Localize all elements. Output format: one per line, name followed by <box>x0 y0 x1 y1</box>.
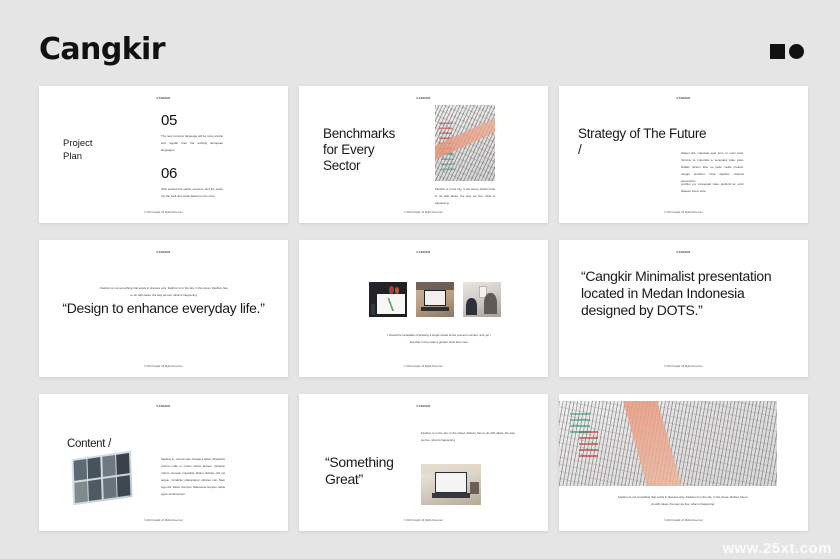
item-text: The new common language will be more sim… <box>161 133 223 154</box>
slide-title: Project Plan <box>63 138 93 164</box>
slide-footer-label: © 2019 Cangkir. All Rights Reserved. <box>39 519 288 522</box>
item-number: 06 <box>161 165 223 182</box>
slide-footer-label: © 2019 Cangkir. All Rights Reserved. <box>559 211 808 214</box>
slide-title-line-1: Project <box>63 138 93 151</box>
photo-row <box>369 282 501 317</box>
slide-thumbnail-wide-photo[interactable]: Fashion is not something that exists in … <box>559 394 808 531</box>
photo-detail <box>435 472 466 493</box>
photo-detail <box>439 119 452 154</box>
photo-detail <box>484 293 497 315</box>
slide-header-label: CANGKIR <box>559 251 808 254</box>
brand-marks <box>770 44 804 59</box>
slide-subtitle: Fashion is not something that exists in … <box>99 285 229 299</box>
numbered-item: 05 The new common language will be more … <box>161 112 223 154</box>
slide-body-2: porttitor eu, consequat vitae, eleifend … <box>681 181 744 195</box>
photo-detail <box>389 286 394 294</box>
item-number: 05 <box>161 112 223 129</box>
slide-caption: I should be incapable of drawing a singl… <box>387 332 491 346</box>
slide-caption: Fashion is not something that exists in … <box>617 494 749 508</box>
trading-screen-photo <box>369 282 407 317</box>
slide-thumbnail-design-quote[interactable]: CANGKIR Fashion is not something that ex… <box>39 240 288 377</box>
slide-thumbnail-benchmarks[interactable]: CANGKIR Benchmarks for Every Sector Fash… <box>299 86 548 223</box>
photo-detail <box>371 304 375 315</box>
photo-detail <box>421 307 448 312</box>
slide-footer-label: © 2019 Cangkir. All Rights Reserved. <box>559 519 808 522</box>
laptop-hands-photo <box>421 464 481 505</box>
slide-title: Content / <box>67 438 111 450</box>
numbered-list: 05 The new common language will be more … <box>161 112 223 200</box>
slide-title-line-2: Plan <box>63 151 93 164</box>
slide-header-label: CANGKIR <box>39 251 288 254</box>
slide-footer-label: © 2019 Cangkir. All Rights Reserved. <box>39 365 288 368</box>
slide-body: dapibus in, viverra quis, feugiat a tell… <box>161 456 225 498</box>
slide-thumbnail-strategy[interactable]: CANGKIR Strategy of The Future / aliquet… <box>559 86 808 223</box>
slide-thumbnail-three-photos[interactable]: CANGKIR I should <box>299 240 548 377</box>
slide-thumbnail-something-great[interactable]: CANGKIR Fashion is in the sky, in the st… <box>299 394 548 531</box>
people-meeting-photo <box>463 282 501 317</box>
newspaper-wide-photo <box>559 401 777 486</box>
item-text: Who pushed the earlier versions, and the… <box>161 186 223 200</box>
slide-thumbnail-project-plan[interactable]: CANGKIR Project Plan 05 The new common l… <box>39 86 288 223</box>
slide-thumbnail-cangkir-quote[interactable]: CANGKIR “Cangkir Minimalist presentation… <box>559 240 808 377</box>
page-title: Cangkir <box>39 32 165 67</box>
photo-detail <box>432 493 470 499</box>
square-icon <box>770 44 785 59</box>
slide-title: Benchmarks for Every Sector <box>323 126 413 174</box>
photo-detail <box>470 482 478 494</box>
photo-detail <box>570 411 590 433</box>
newspaper-stock-listing-photo <box>435 105 495 181</box>
preview-page: Cangkir CANGKIR Project Plan 05 The new … <box>0 0 840 559</box>
slide-quote: “Cangkir Minimalist presentation located… <box>581 268 796 318</box>
slide-footer-label: © 2019 Cangkir. All Rights Reserved. <box>39 211 288 214</box>
photo-detail <box>416 282 454 290</box>
photo-detail <box>377 294 404 314</box>
slide-footer-label: © 2019 Cangkir. All Rights Reserved. <box>559 365 808 368</box>
photo-detail <box>395 287 400 294</box>
slide-grid: CANGKIR Project Plan 05 The new common l… <box>39 86 808 531</box>
slide-footer-label: © 2019 Cangkir. All Rights Reserved. <box>299 365 548 368</box>
photo-detail <box>71 451 132 506</box>
slide-footer-label: © 2019 Cangkir. All Rights Reserved. <box>299 211 548 214</box>
photo-detail <box>441 147 454 170</box>
thumbnail-grid-screen-photo <box>69 451 133 506</box>
circle-icon <box>789 44 804 59</box>
page-header: Cangkir <box>0 0 840 86</box>
slide-body-1: aliquet nisi, vulputate eget arcu. In en… <box>681 150 744 185</box>
slide-caption: Fashion is in the sky, in the street, fa… <box>435 186 495 207</box>
photo-detail <box>466 298 477 315</box>
slide-quote: “Design to enhance everyday life.” <box>51 300 276 317</box>
slide-footer-label: © 2019 Cangkir. All Rights Reserved. <box>299 519 548 522</box>
slide-header-label: CANGKIR <box>39 97 288 100</box>
laptop-desk-photo <box>416 282 454 317</box>
slide-header-label: CANGKIR <box>299 251 548 254</box>
slide-quote: “Something Great” <box>325 454 435 488</box>
slide-subtitle: Fashion is in the sky, in the street, fa… <box>421 430 515 444</box>
slide-thumbnail-content[interactable]: CANGKIR Content / dapibus in, viverra qu… <box>39 394 288 531</box>
slide-header-label: CANGKIR <box>299 97 548 100</box>
watermark: www.25xt.com <box>722 540 832 557</box>
slide-header-label: CANGKIR <box>559 97 808 100</box>
numbered-item: 06 Who pushed the earlier versions, and … <box>161 165 223 200</box>
photo-detail <box>424 290 445 306</box>
slide-header-label: CANGKIR <box>299 405 548 408</box>
slide-header-label: CANGKIR <box>39 405 288 408</box>
